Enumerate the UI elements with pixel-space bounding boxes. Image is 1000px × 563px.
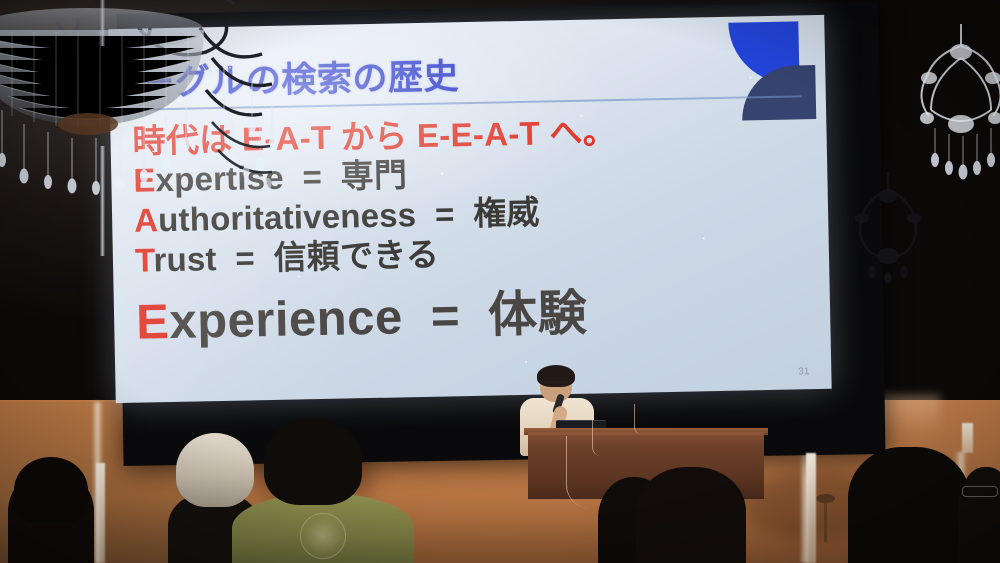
podium-cable-b: [592, 410, 601, 456]
window-glare-left: [96, 463, 105, 563]
dust-speck: [441, 173, 443, 175]
line-japanese-term: 体験: [488, 287, 588, 343]
audience-member-dark-hair-left-hair: [14, 457, 88, 523]
line-equals: =: [235, 239, 255, 276]
dust-speck: [364, 324, 366, 326]
line-initial-letter: A: [134, 201, 159, 238]
slide-body: 時代は E-A-T から E-E-A-T へ。 Expertise = 専門 A…: [132, 111, 816, 348]
slide-line-trust: Trust = 信頼できる: [135, 230, 816, 277]
dust-speck: [580, 115, 582, 117]
line-equals: =: [430, 289, 460, 344]
line-japanese-term: 信頼できる: [273, 236, 439, 276]
line-word-remainder: uthoritativeness: [158, 196, 417, 238]
leaf-petal-motif: [720, 17, 818, 123]
line-initial-letter: T: [135, 241, 154, 278]
line-japanese-term: 権威: [473, 194, 540, 232]
line-initial-letter: E: [136, 295, 170, 350]
stage-light-stand: [824, 498, 827, 542]
chandelier-suspension-rod: [100, 0, 105, 46]
slide-page-number: 31: [798, 366, 809, 377]
line-equals: =: [302, 158, 322, 195]
line-japanese-term: 専門: [340, 156, 407, 194]
slide-headline: 時代は E-A-T から E-E-A-T へ。: [132, 111, 813, 158]
far-right-glasses-icon: [962, 486, 998, 497]
audience-member-long-hair-right: [848, 447, 970, 563]
chandelier-suspension-rod-lower: [100, 146, 105, 256]
slide-title: ーグルの検索の歴史: [139, 48, 459, 105]
line-equals: =: [435, 195, 455, 232]
line-word-remainder: xpertise: [155, 159, 284, 199]
dust-speck: [229, 67, 231, 69]
glasses-icon: [541, 382, 571, 389]
projected-slide: ーグルの検索の歴史 時代は E-A-T から E-E-A-T へ。 Expert…: [108, 15, 831, 403]
olive-shirt-emblem: [300, 513, 346, 559]
window-glare-right: [962, 423, 973, 453]
slide-line-authoritativeness: Authoritativeness = 権威: [134, 190, 815, 237]
line-word-remainder: xperience: [169, 290, 403, 349]
presentation-photo-scene: ーグルの検索の歴史 時代は E-A-T から E-E-A-T へ。 Expert…: [0, 0, 1000, 563]
dust-speck: [525, 361, 527, 363]
dust-speck: [749, 76, 751, 78]
dust-speck: [703, 237, 705, 239]
window-glare-center: [806, 453, 816, 563]
audience-member-blonde-center-hair: [176, 433, 254, 507]
line-initial-letter: E: [133, 161, 156, 198]
audience-member-bald: [636, 467, 746, 563]
audience-member-glasses-far-right: [958, 467, 1000, 563]
stage-light-head: [816, 494, 835, 503]
slide-content: ーグルの検索の歴史 時代は E-A-T から E-E-A-T へ。 Expert…: [108, 15, 831, 403]
dust-speck: [298, 275, 300, 277]
audience-member-olive-shirt-head: [264, 419, 362, 505]
line-word-remainder: rust: [153, 240, 217, 278]
podium-cable-a: [566, 436, 589, 508]
slide-line-experience: Experience = 体験: [136, 285, 817, 348]
podium-cable-c: [634, 404, 641, 434]
